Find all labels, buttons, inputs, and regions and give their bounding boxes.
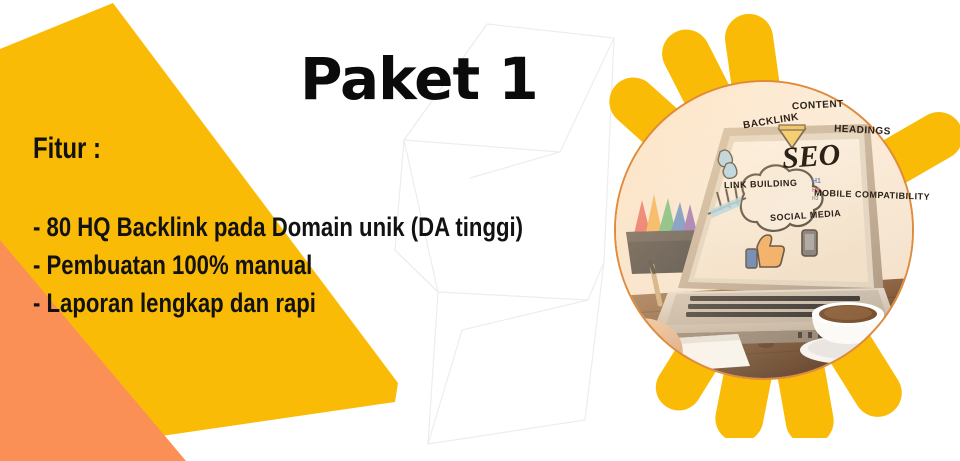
feature-list: - 80 HQ Backlink pada Domain unik (DA ti… bbox=[33, 208, 631, 322]
seo-center-label: SEO bbox=[781, 138, 842, 176]
list-item: - Laporan lengkap dan rapi bbox=[33, 284, 523, 322]
list-item: - Pembuatan 100% manual bbox=[33, 246, 523, 284]
features-label: Fitur : bbox=[33, 132, 101, 166]
page-title: Paket 1 bbox=[300, 45, 600, 113]
list-item: - 80 HQ Backlink pada Domain unik (DA ti… bbox=[33, 208, 523, 246]
promo-banner: H1 H2 H3 bbox=[0, 0, 960, 461]
